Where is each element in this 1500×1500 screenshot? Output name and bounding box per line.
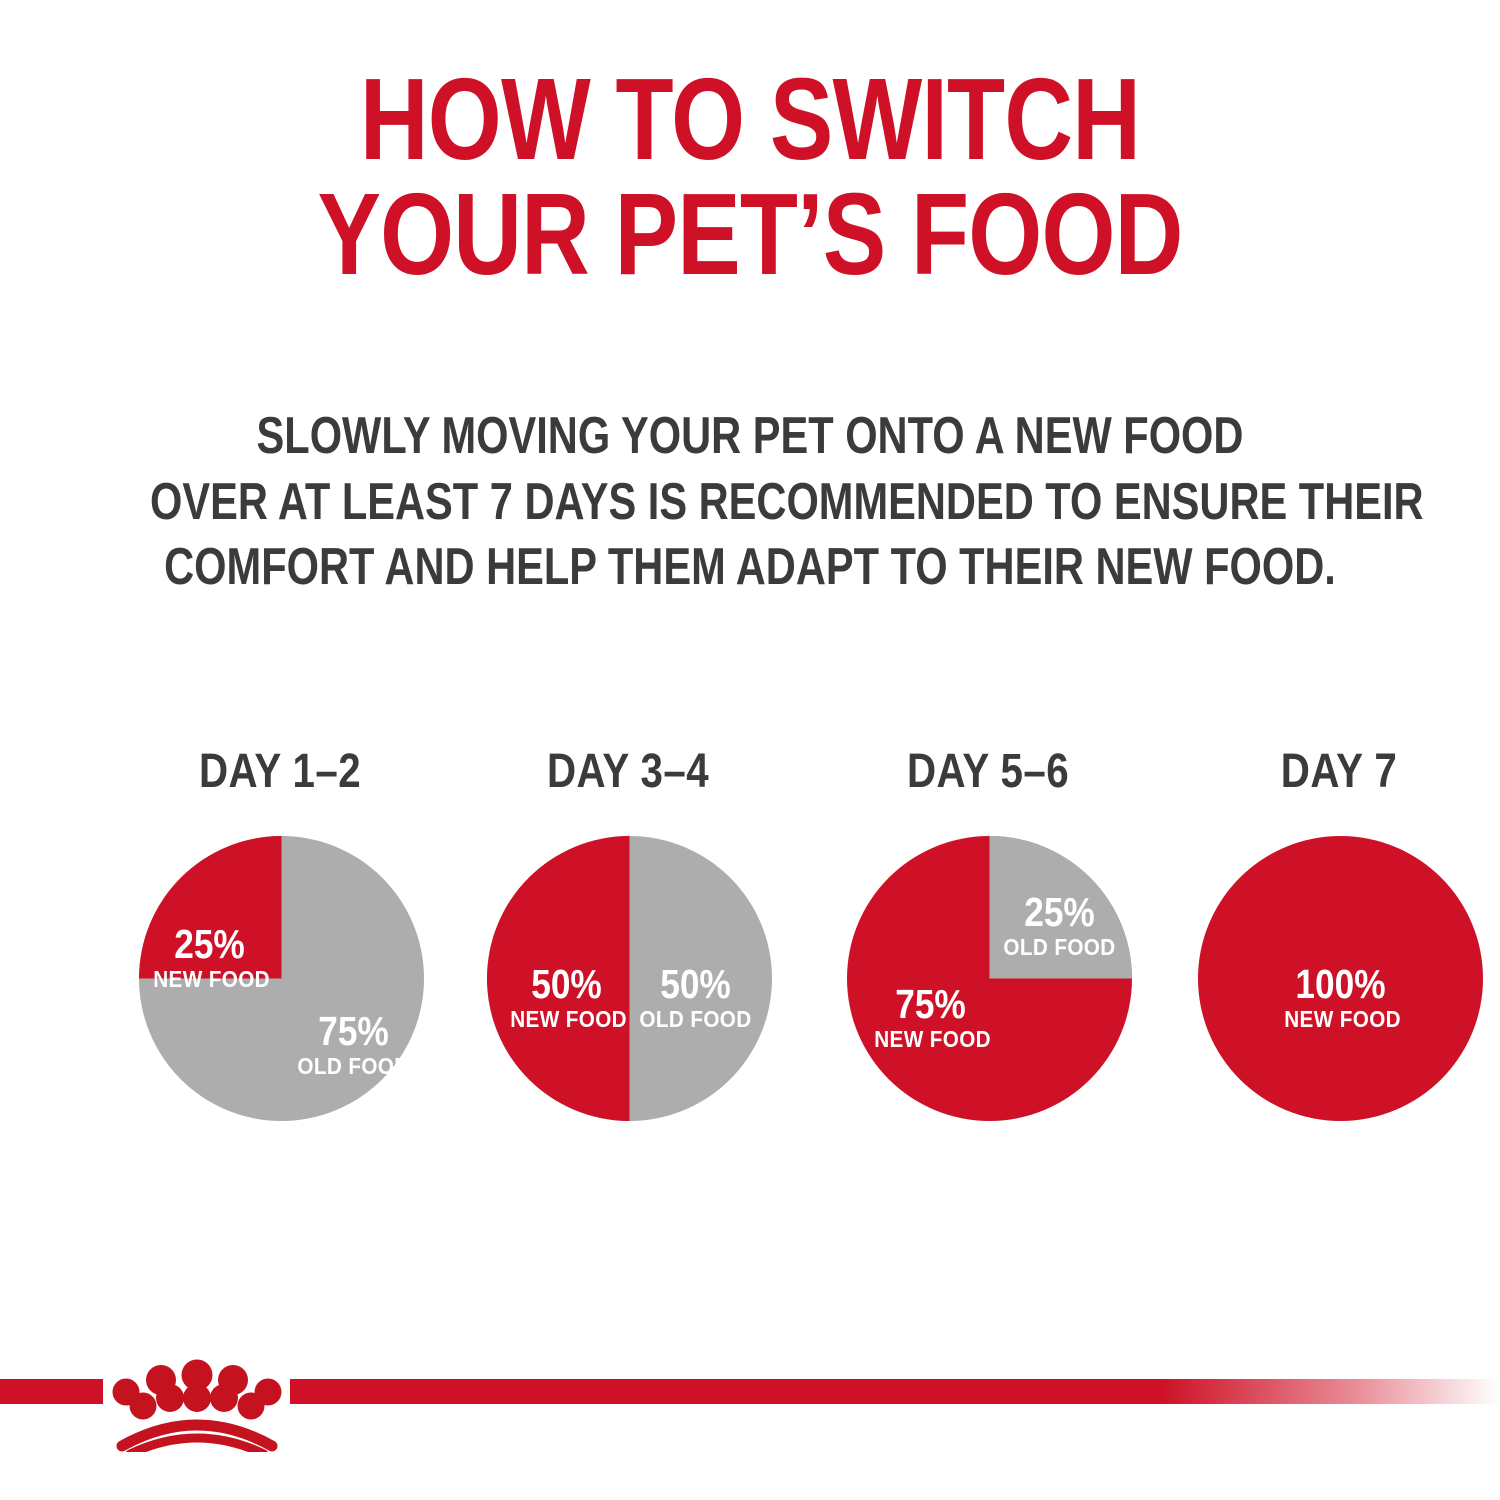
footer-rule-left xyxy=(0,1379,103,1404)
page-subtitle-line-2: OVER AT LEAST 7 DAYS IS RECOMMENDED TO E… xyxy=(150,470,1350,536)
pie-chart-row: DAY 1–2 25% NEW FOOD 75% OLD FOOD DAY 3–… xyxy=(0,748,1500,1168)
day-label-2: DAY 3–4 xyxy=(502,748,754,796)
royal-canin-crown-icon xyxy=(106,1342,288,1452)
footer xyxy=(0,1370,1500,1500)
pie-graphic-day-7: 100% NEW FOOD xyxy=(1198,836,1483,1121)
page-subtitle-line-3: COMFORT AND HELP THEM ADAPT TO THEIR NEW… xyxy=(150,535,1350,601)
pie-chart-day-3-4: DAY 3–4 50% NEW FOOD 50% OLD FOOD xyxy=(478,748,778,1168)
page-title-line-1: HOW TO SWITCH xyxy=(135,62,1365,177)
pie-graphic-day-5-6: 25% OLD FOOD 75% NEW FOOD xyxy=(847,836,1132,1121)
day-label-4: DAY 7 xyxy=(1213,748,1465,796)
page-subtitle: SLOWLY MOVING YOUR PET ONTO A NEW FOOD O… xyxy=(150,404,1350,601)
page-subtitle-line-1: SLOWLY MOVING YOUR PET ONTO A NEW FOOD xyxy=(150,404,1350,470)
pie-chart-day-7: DAY 7 100% NEW FOOD xyxy=(1189,748,1489,1168)
page-title-line-2: YOUR PET’S FOOD xyxy=(135,177,1365,292)
page-title: HOW TO SWITCH YOUR PET’S FOOD xyxy=(135,62,1365,292)
pie-chart-day-1-2: DAY 1–2 25% NEW FOOD 75% OLD FOOD xyxy=(130,748,430,1168)
day-label-1: DAY 1–2 xyxy=(154,748,406,796)
day-label-3: DAY 5–6 xyxy=(862,748,1114,796)
pie-chart-day-5-6: DAY 5–6 25% OLD FOOD 75% NEW FOOD xyxy=(838,748,1138,1168)
footer-rule-right xyxy=(290,1379,1500,1404)
pie-graphic-day-3-4: 50% NEW FOOD 50% OLD FOOD xyxy=(487,836,772,1121)
pie-graphic-day-1-2: 25% NEW FOOD 75% OLD FOOD xyxy=(139,836,424,1121)
